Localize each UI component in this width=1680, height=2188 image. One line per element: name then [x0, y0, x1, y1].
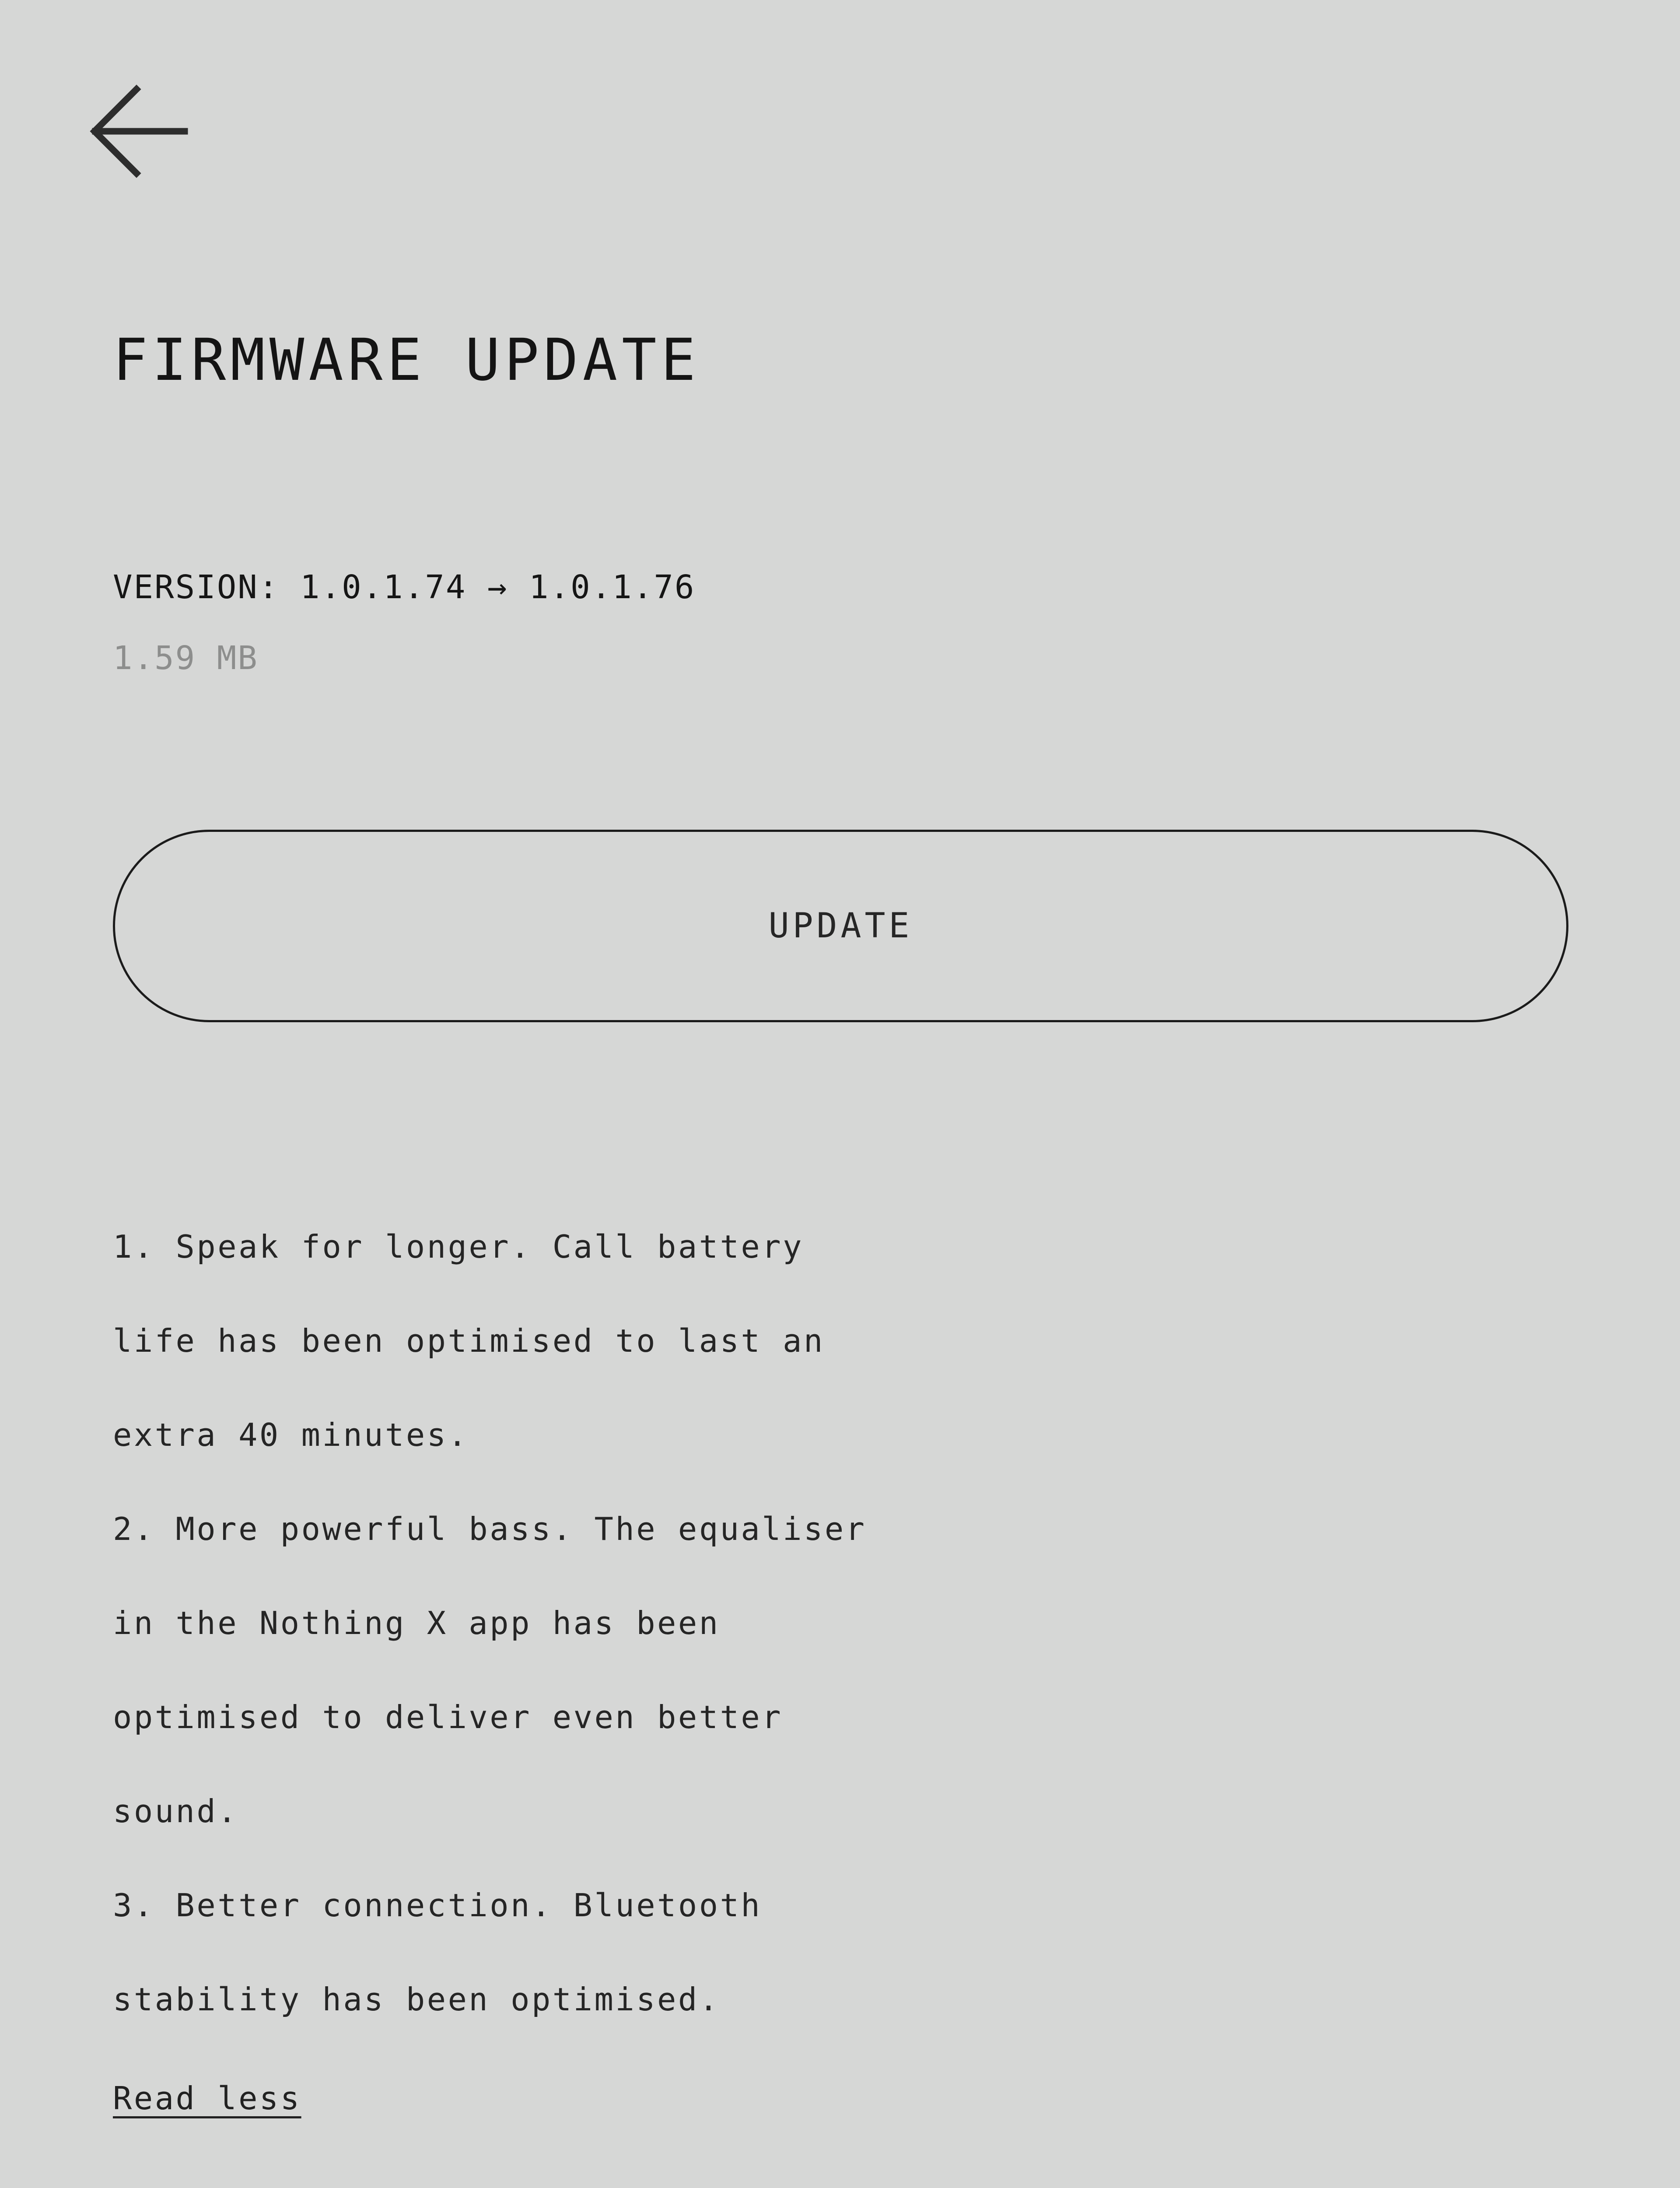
release-notes: 1. Speak for longer. Call battery life h… — [113, 1200, 1557, 2047]
release-note-line: sound. — [113, 1764, 1557, 1858]
update-button-label: UPDATE — [769, 909, 913, 943]
release-note-line: extra 40 minutes. — [113, 1388, 1557, 1482]
release-note-line: 2. More powerful bass. The equaliser — [113, 1482, 1557, 1576]
firmware-size-label: 1.59 MB — [113, 640, 259, 677]
firmware-version-line: VERSION: 1.0.1.74 → 1.0.1.76 — [113, 569, 695, 606]
release-note-line: in the Nothing X app has been — [113, 1576, 1557, 1670]
page-title: FIRMWARE UPDATE — [113, 327, 700, 393]
release-note-line: 1. Speak for longer. Call battery — [113, 1200, 1557, 1294]
release-note-line: optimised to deliver even better — [113, 1670, 1557, 1764]
release-note-line: stability has been optimised. — [113, 1953, 1557, 2047]
back-button[interactable] — [87, 66, 219, 197]
release-note-line: life has been optimised to last an — [113, 1294, 1557, 1388]
read-less-link[interactable]: Read less — [113, 2074, 301, 2122]
release-note-line: 3. Better connection. Bluetooth — [113, 1858, 1557, 1953]
arrow-left-icon — [87, 83, 188, 179]
update-button[interactable]: UPDATE — [113, 830, 1568, 1022]
